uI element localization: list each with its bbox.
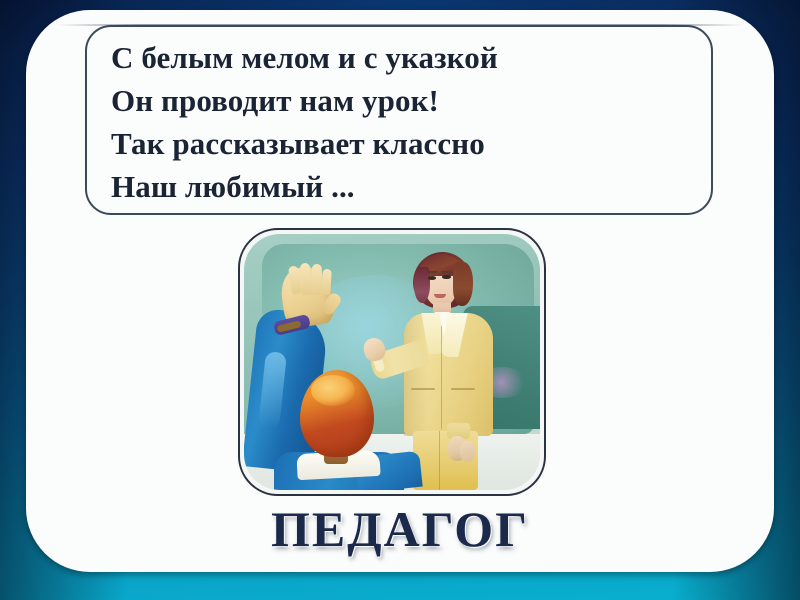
illustration-frame — [238, 228, 546, 496]
riddle-line-2: Он проводит нам урок! — [111, 79, 711, 122]
student-hair-highlight — [311, 375, 355, 406]
riddle-line-1: С белым мелом и с указкой — [111, 36, 711, 79]
answer-word: ПЕДАГОГ — [0, 500, 800, 558]
slide: С белым мелом и с указкой Он проводит на… — [0, 0, 800, 600]
illustration — [238, 228, 546, 496]
teacher-jacket-seam — [441, 326, 442, 428]
riddle-text-box: С белым мелом и с указкой Он проводит на… — [85, 25, 713, 215]
teacher-pocket-right — [451, 388, 475, 390]
teacher-skirt-fold — [439, 431, 440, 490]
riddle-line-3: Так рассказывает классно — [111, 122, 711, 165]
illustration-canvas — [244, 234, 540, 490]
teacher-pocket-left — [411, 388, 435, 390]
riddle-line-4: Наш любимый ... — [111, 165, 711, 208]
teacher-eye-left — [428, 276, 436, 280]
teacher-hand-right-secondary — [460, 441, 475, 461]
